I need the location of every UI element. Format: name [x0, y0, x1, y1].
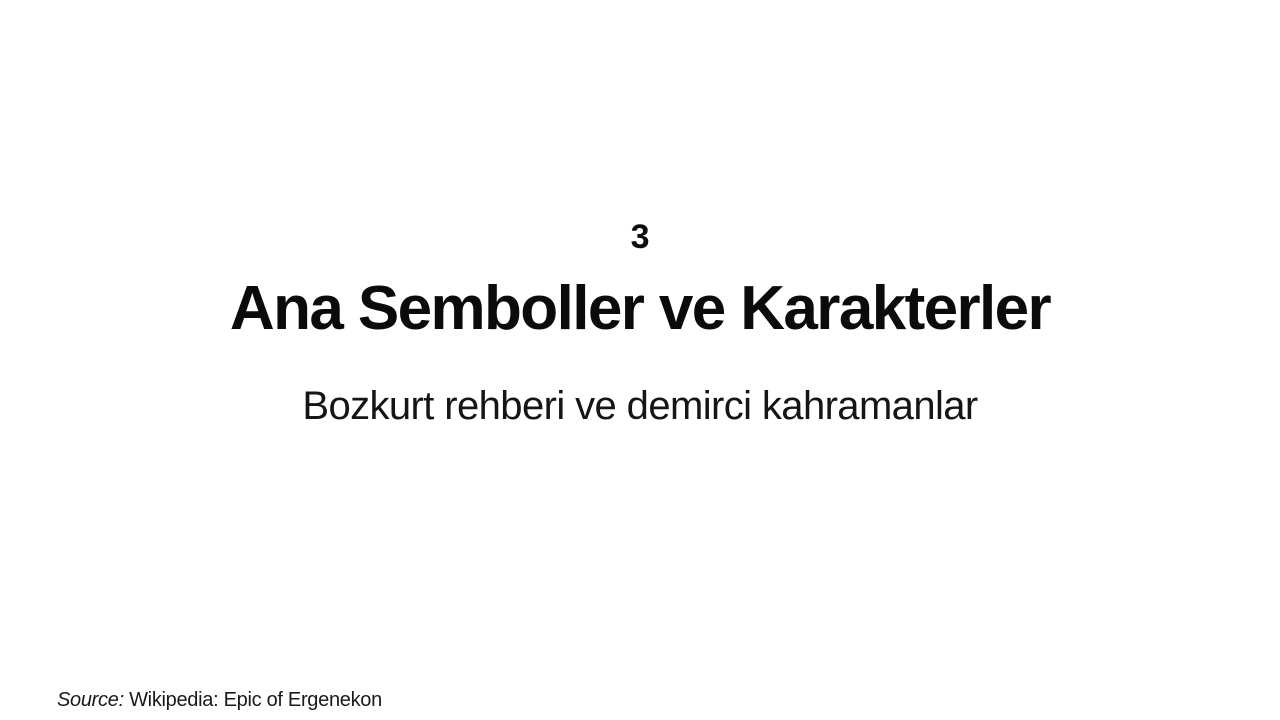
slide-content-block: 3 Ana Semboller ve Karakterler Bozkurt r… [0, 206, 1280, 428]
slide-subtitle: Bozkurt rehberi ve demirci kahramanlar [0, 384, 1280, 428]
slide-number: 3 [0, 206, 1280, 254]
source-value: Wikipedia: Epic of Ergenekon [129, 689, 382, 711]
source-note: Source: Wikipedia: Epic of Ergenekon [57, 688, 382, 712]
source-label: Source: [57, 689, 124, 711]
slide-canvas: 3 Ana Semboller ve Karakterler Bozkurt r… [0, 0, 1280, 720]
page-title: Ana Semboller ve Karakterler [0, 276, 1280, 343]
